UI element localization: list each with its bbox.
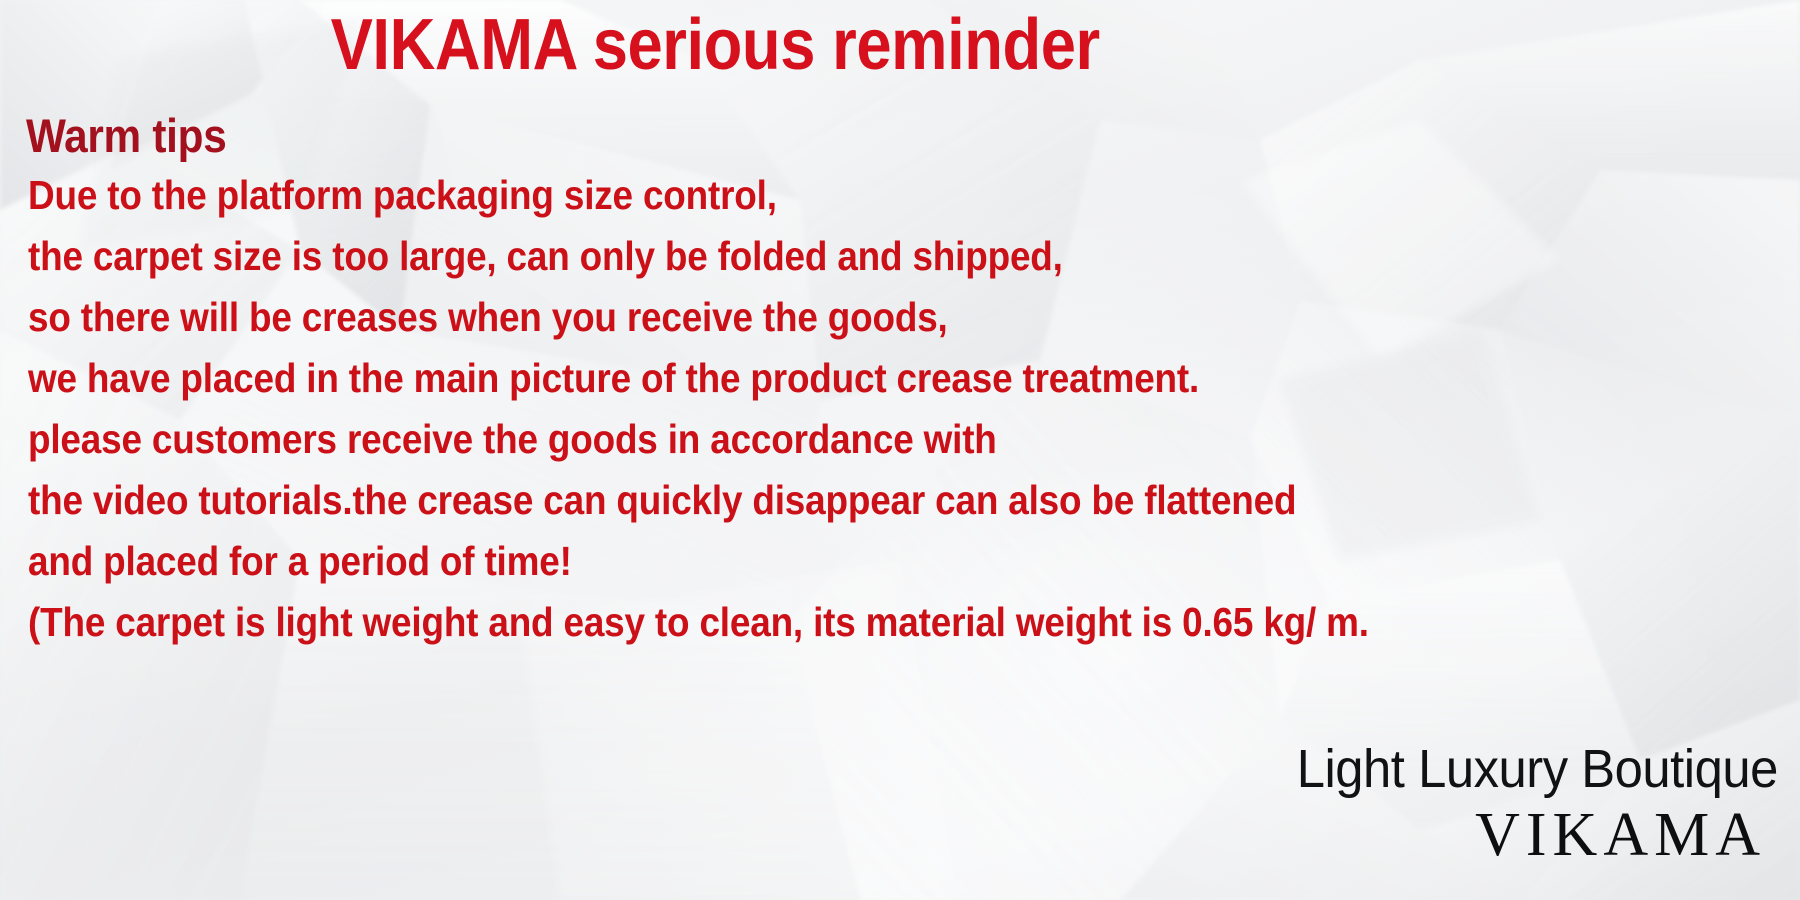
body-line: we have placed in the main picture of th… <box>28 348 1612 409</box>
body-line: Due to the platform packaging size contr… <box>28 165 1612 226</box>
page-title: VIKAMA serious reminder <box>108 8 1692 84</box>
warm-tips-heading: Warm tips <box>26 108 226 163</box>
body-line: please customers receive the goods in ac… <box>28 409 1612 470</box>
body-line: (The carpet is light weight and easy to … <box>28 592 1612 653</box>
reminder-banner: VIKAMA serious reminder Warm tips Due to… <box>0 0 1800 900</box>
brand-tagline: Light Luxury Boutique <box>1297 738 1778 800</box>
body-line: the video tutorials.the crease can quick… <box>28 470 1612 531</box>
reminder-body: Due to the platform packaging size contr… <box>28 165 1788 653</box>
body-line: and placed for a period of time! <box>28 531 1612 592</box>
body-line: so there will be creases when you receiv… <box>28 287 1612 348</box>
brand-name: VIKAMA <box>1475 800 1772 871</box>
body-line: the carpet size is too large, can only b… <box>28 226 1612 287</box>
